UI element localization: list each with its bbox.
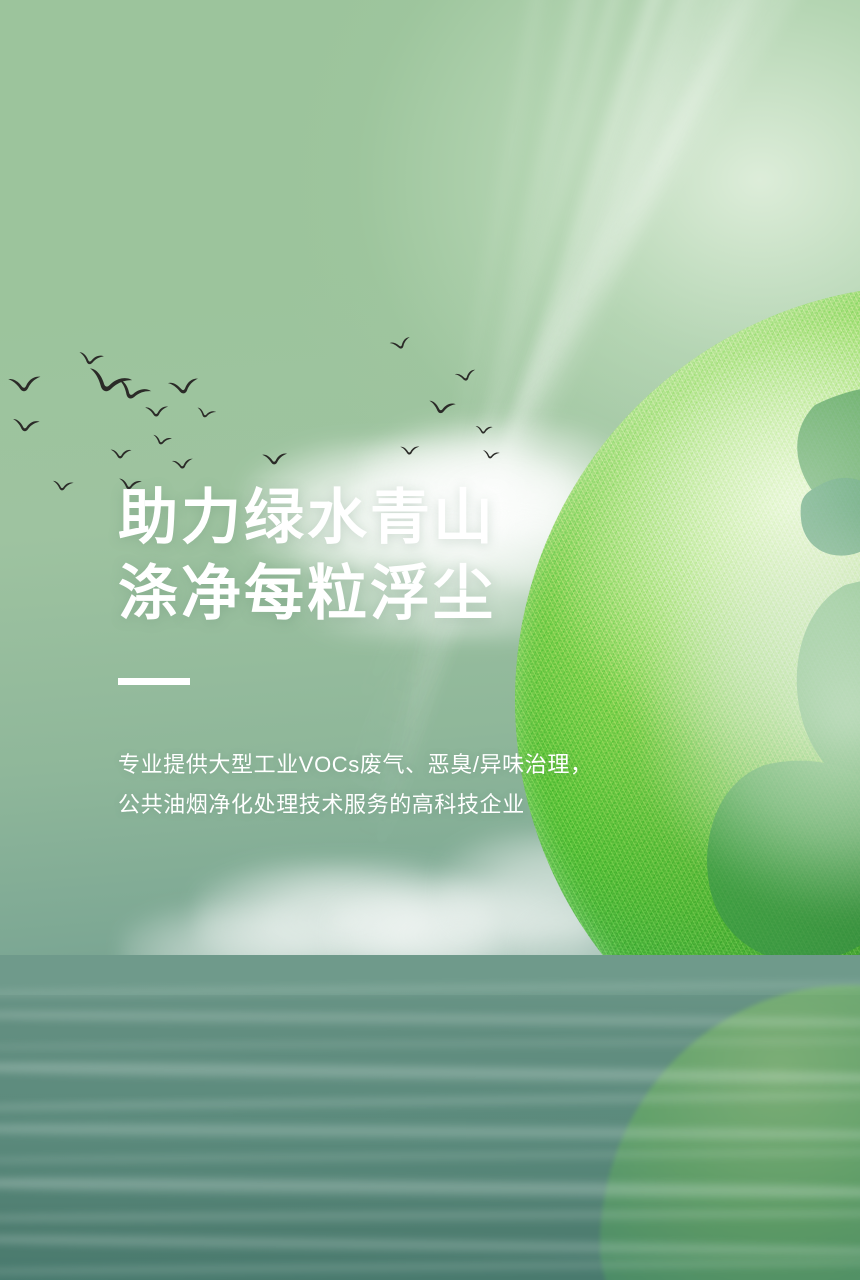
water-surface-icon (0, 955, 860, 1280)
bird-icon-9 (151, 433, 173, 447)
subtitle-line-1: 专业提供大型工业VOCs废气、恶臭/异味治理， (118, 745, 678, 785)
bird-icon-15 (400, 445, 420, 457)
headline-line-2: 涤净每粒浮尘 (118, 556, 678, 632)
bird-icon-1 (7, 373, 43, 395)
poster-subtitle: 专业提供大型工业VOCs废气、恶臭/异味治理， 公共油烟净化处理技术服务的高科技… (118, 745, 678, 825)
flying-birds-icon (0, 330, 470, 460)
bird-icon-10 (113, 377, 153, 407)
subtitle-line-2: 公共油烟净化处理技术服务的高科技企业 (118, 785, 678, 825)
headline-line-1: 助力绿水青山 (118, 480, 678, 556)
bird-icon-14 (389, 335, 414, 353)
bird-icon-6 (110, 448, 132, 460)
page-title: 助力绿水青山 涤净每粒浮尘 (118, 480, 678, 632)
bird-icon-18 (52, 479, 75, 493)
water-wave-2 (0, 1007, 860, 1032)
bird-icon-7 (145, 404, 170, 419)
bird-icon-5 (11, 417, 40, 434)
bird-icon-20 (262, 451, 289, 467)
bird-icon-12 (427, 399, 456, 417)
bird-icon-19 (195, 406, 217, 421)
poster-content: 助力绿水青山 涤净每粒浮尘 专业提供大型工业VOCs废气、恶臭/异味治理， 公共… (118, 480, 678, 825)
eco-poster: 助力绿水青山 涤净每粒浮尘 专业提供大型工业VOCs废气、恶臭/异味治理， 公共… (0, 0, 860, 1280)
bird-icon-4 (167, 375, 202, 398)
divider-rule (118, 678, 190, 685)
bird-icon-13 (475, 425, 493, 436)
